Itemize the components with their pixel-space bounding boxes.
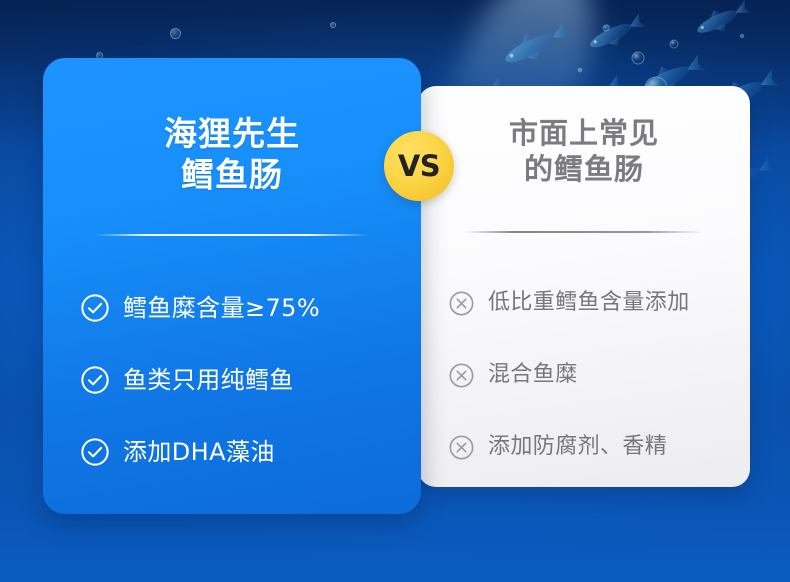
feature-label: 混合鱼糜: [488, 364, 578, 386]
list-item: 添加防腐剂、香精: [418, 411, 750, 483]
list-item: 混合鱼糜: [418, 339, 750, 411]
comparison-infographic: 海狸先生 鳕鱼肠 鳕鱼糜含量≥75% 鱼类只用纯鳕鱼: [0, 0, 790, 582]
competitor-feature-list: 低比重鳕鱼含量添加 混合鱼糜 添加防腐剂、香精: [418, 267, 750, 483]
brand-card-divider: [95, 234, 369, 236]
check-circle-icon: [80, 365, 110, 395]
bubble-icon: [170, 28, 181, 39]
feature-label: 鱼类只用纯鳕鱼: [123, 368, 294, 392]
bubble-icon: [330, 22, 336, 28]
list-item: 鱼类只用纯鳕鱼: [43, 344, 421, 416]
feature-label: 添加DHA藻油: [123, 440, 275, 464]
brand-title-line-1: 海狸先生: [43, 114, 421, 155]
vs-badge-label: VS: [398, 152, 440, 181]
x-circle-icon: [448, 362, 475, 389]
competitor-title-line-2: 的鳕鱼肠: [418, 152, 750, 188]
feature-label: 低比重鳕鱼含量添加: [488, 292, 690, 314]
brand-title-line-2: 鳕鱼肠: [43, 155, 421, 196]
x-circle-icon: [448, 290, 475, 317]
brand-product-card: 海狸先生 鳕鱼肠 鳕鱼糜含量≥75% 鱼类只用纯鳕鱼: [43, 58, 421, 514]
x-circle-icon: [448, 434, 475, 461]
competitor-product-card: 市面上常见 的鳕鱼肠 低比重鳕鱼含量添加 混合鱼糜: [418, 86, 750, 487]
list-item: 添加DHA藻油: [43, 416, 421, 488]
feature-label: 添加防腐剂、香精: [488, 436, 667, 458]
competitor-title-line-1: 市面上常见: [418, 116, 750, 152]
check-circle-icon: [80, 293, 110, 323]
list-item: 低比重鳕鱼含量添加: [418, 267, 750, 339]
brand-feature-list: 鳕鱼糜含量≥75% 鱼类只用纯鳕鱼 添加DHA藻油: [43, 272, 421, 488]
check-circle-icon: [80, 437, 110, 467]
competitor-card-divider: [466, 231, 702, 233]
feature-label: 鳕鱼糜含量≥75%: [123, 296, 320, 320]
brand-card-title: 海狸先生 鳕鱼肠: [43, 114, 421, 196]
competitor-card-title: 市面上常见 的鳕鱼肠: [418, 116, 750, 188]
list-item: 鳕鱼糜含量≥75%: [43, 272, 421, 344]
vs-badge: VS: [384, 131, 454, 201]
